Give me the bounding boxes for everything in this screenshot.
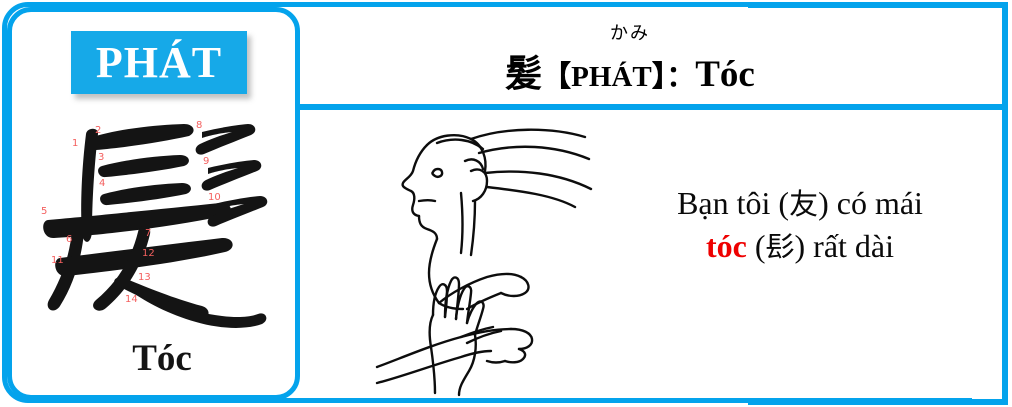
kanji-meaning-label: Tóc xyxy=(12,337,312,380)
svg-text:4: 4 xyxy=(99,178,105,189)
example-sentence: Bạn tôi (友) có mái tóc (髟) rất dài xyxy=(600,182,1000,268)
headword-colon: ： xyxy=(666,61,695,93)
headword-bracket-close: 】 xyxy=(652,61,667,93)
svg-text:7: 7 xyxy=(145,228,151,239)
sino-vietnamese-badge: PHÁT xyxy=(71,31,247,94)
example-keyword: tóc xyxy=(706,228,747,264)
example-text-3: ( xyxy=(747,228,766,264)
example-text-2: ) có mái xyxy=(818,185,923,221)
header-zone: かみ 髪【PHÁT】：Tóc xyxy=(300,7,1005,104)
example-sentence-line-1: Bạn tôi (友) có mái xyxy=(600,182,1000,225)
svg-text:8: 8 xyxy=(196,120,202,131)
detail-panel: かみ 髪【PHÁT】：Tóc xyxy=(300,7,1005,400)
flashcard-root: PHÁT xyxy=(0,0,1012,407)
svg-text:9: 9 xyxy=(203,156,209,167)
kanji-stroke-order-diagram: 1 2 3 4 5 6 7 8 9 10 11 12 13 14 xyxy=(32,108,292,328)
example-sentence-line-2: tóc (髟) rất dài xyxy=(600,225,1000,268)
svg-text:1: 1 xyxy=(72,138,78,149)
headword-kanji: 髪 xyxy=(505,54,542,95)
svg-text:6: 6 xyxy=(66,234,72,245)
svg-text:5: 5 xyxy=(41,206,47,217)
example-kanji-friend: 友 xyxy=(789,187,818,221)
svg-text:2: 2 xyxy=(95,125,101,136)
svg-text:12: 12 xyxy=(142,248,155,259)
kanji-card: PHÁT xyxy=(7,7,300,400)
svg-text:3: 3 xyxy=(98,152,104,163)
headword-meaning: Tóc xyxy=(695,54,755,95)
example-text-4: ) rất dài xyxy=(795,228,895,264)
headword-line: 髪【PHÁT】：Tóc xyxy=(300,43,960,97)
headword-sino-vietnamese: PHÁT xyxy=(571,61,652,93)
example-kanji-hair-radical: 髟 xyxy=(766,230,795,264)
svg-text:13: 13 xyxy=(138,272,151,283)
headword-bracket-open: 【 xyxy=(542,61,571,93)
svg-text:11: 11 xyxy=(51,255,64,266)
svg-text:10: 10 xyxy=(208,192,221,203)
svg-text:14: 14 xyxy=(125,294,138,305)
header-divider xyxy=(300,104,1005,110)
furigana-reading: かみ xyxy=(300,19,960,45)
example-text-1: Bạn tôi ( xyxy=(677,185,789,221)
hair-illustration xyxy=(375,115,605,400)
